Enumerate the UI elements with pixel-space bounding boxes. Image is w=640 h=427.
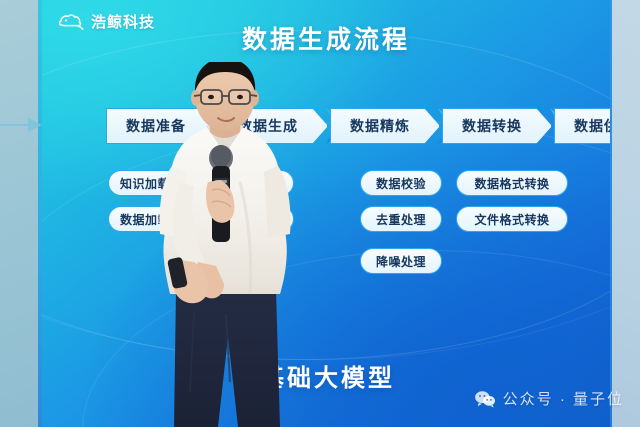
arrow-right-icon — [0, 112, 44, 138]
process-pill: 文件格式转换 — [456, 206, 568, 232]
stage-chevron-label: 数据转换 — [462, 116, 522, 136]
wechat-icon — [474, 390, 496, 408]
stage-chevron-4: 数据转换 — [442, 108, 552, 144]
wechat-watermark: 公众号 · 量子位 — [474, 388, 624, 409]
room-wall-right — [610, 0, 640, 427]
process-pill: 去重处理 — [360, 206, 442, 232]
whale-cloud-icon — [58, 13, 84, 31]
stage-chevron-label: 数据精炼 — [350, 116, 410, 136]
brand-logo: 浩鲸科技 — [58, 13, 155, 31]
process-pill: 降噪处理 — [360, 248, 442, 274]
stage-chevron-5: 数据供给 — [554, 108, 610, 144]
process-pill: 数据格式转换 — [456, 170, 568, 196]
room-wall-left — [0, 0, 42, 427]
brand-name: 浩鲸科技 — [91, 15, 155, 30]
stage-chevron-label: 数据供给 — [574, 116, 610, 136]
speaker-person — [120, 62, 330, 427]
watermark-text: 公众号 · 量子位 — [503, 388, 624, 409]
screenshot-stage: 浩鲸科技 数据生成流程 数据准备数据生成数据精炼数据转换数据供给 知识加载数据加… — [0, 0, 640, 427]
stage-chevron-3: 数据精炼 — [330, 108, 440, 144]
process-pill: 数据校验 — [360, 170, 442, 196]
